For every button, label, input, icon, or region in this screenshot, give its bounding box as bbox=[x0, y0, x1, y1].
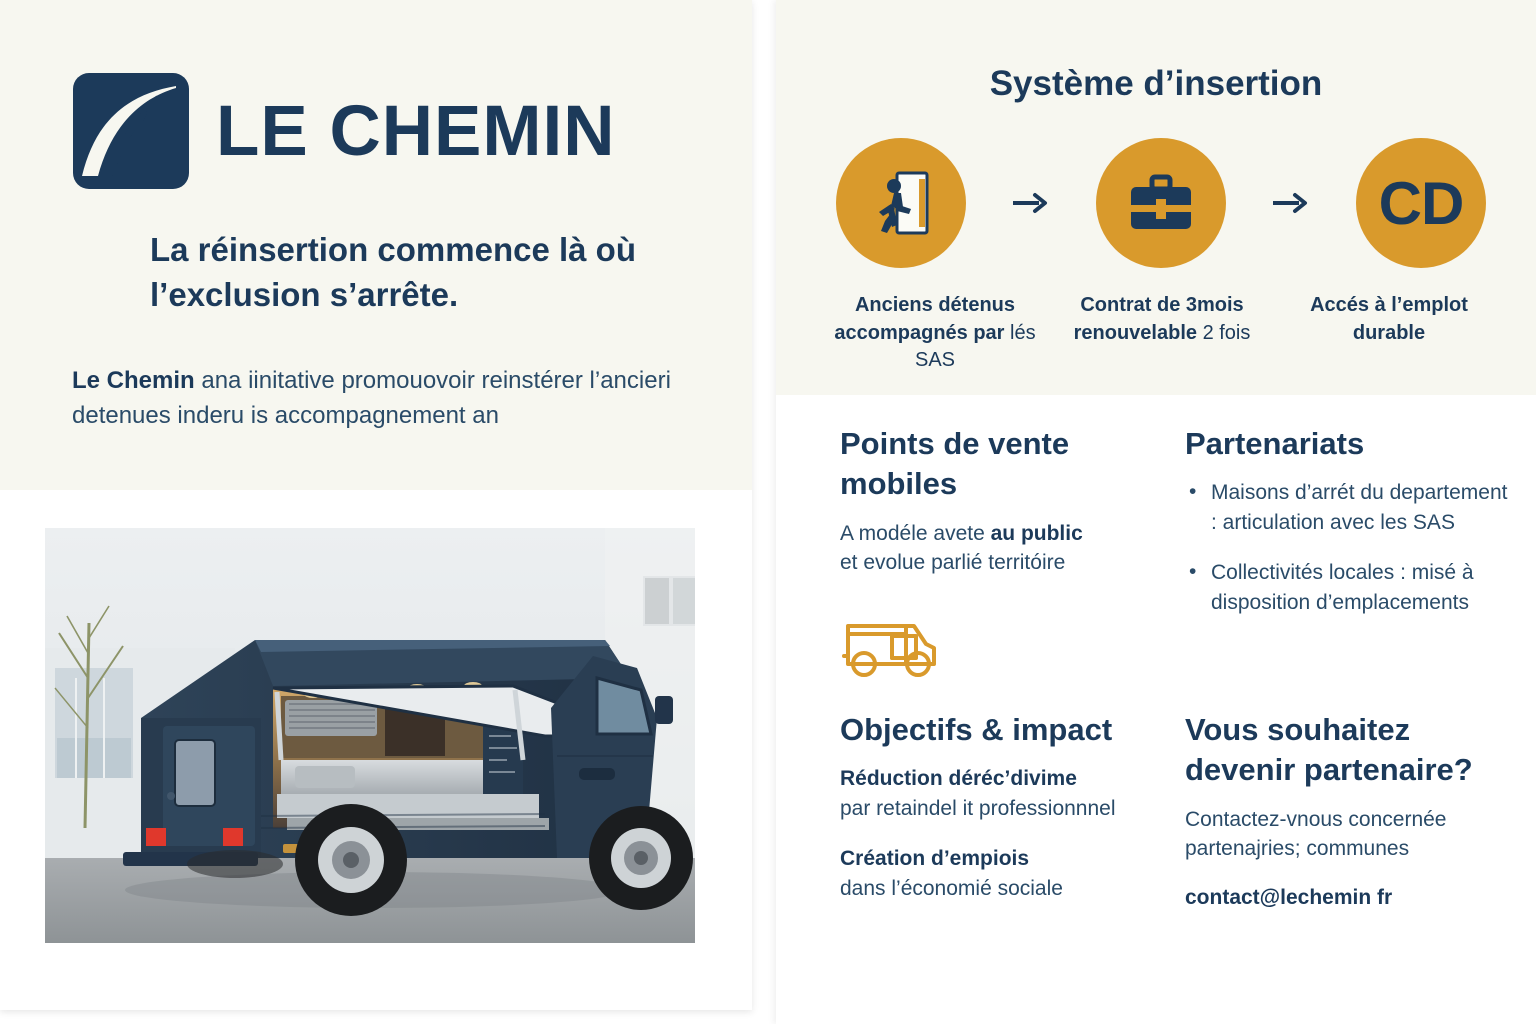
objectifs-item-1-regular: par retaindel it professionnnel bbox=[840, 794, 1160, 824]
road-logo-icon bbox=[72, 72, 190, 190]
objectifs-heading: Objectifs & impact bbox=[840, 710, 1160, 750]
right-panel: Système d’insertion bbox=[776, 0, 1536, 1024]
step-1-caption-bold: Anciens détenus accompagnés par bbox=[834, 294, 1015, 344]
step-1-caption: Anciens détenus accompagnés par lés SAS bbox=[830, 292, 1040, 375]
objectifs-item-2-regular: dans l’économié sociale bbox=[840, 874, 1160, 904]
brand-lockup: LE CHEMIN bbox=[72, 72, 616, 190]
list-item: Maisons d’arrét du departement : articul… bbox=[1185, 478, 1515, 538]
step-3-caption: Accés à l’emplot durable bbox=[1284, 292, 1494, 375]
points-de-vente-body: A modéle avete au public et evolue parli… bbox=[840, 519, 1156, 579]
person-exiting-door-icon bbox=[861, 163, 941, 243]
step-2-circle bbox=[1096, 138, 1226, 268]
partenariats-bullet-list: Maisons d’arrét du departement : articul… bbox=[1185, 478, 1515, 617]
step-captions: Anciens détenus accompagnés par lés SAS … bbox=[830, 292, 1494, 375]
devenir-partenaire-body: Contactez-vnous concernée partenajries; … bbox=[1185, 805, 1515, 865]
step-3-circle: CD bbox=[1356, 138, 1486, 268]
tagline: La réinsertion commence là où l’exclusio… bbox=[150, 228, 730, 317]
points-de-vente-heading: Points de vente mobiles bbox=[840, 424, 1156, 505]
section-objectifs: Objectifs & impact Réduction déréc’divim… bbox=[840, 710, 1160, 904]
points-de-vente-line1-strong: au public bbox=[991, 522, 1083, 545]
system-title: Système d’insertion bbox=[776, 64, 1536, 104]
briefcase-icon bbox=[1121, 163, 1201, 243]
arrow-right-icon bbox=[1002, 191, 1060, 215]
lead-paragraph-strong: Le Chemin bbox=[72, 367, 195, 394]
cd-text-icon: CD bbox=[1379, 169, 1464, 238]
contact-email[interactable]: contact@lechemin fr bbox=[1185, 886, 1515, 910]
left-panel: LE CHEMIN La réinsertion commence là où … bbox=[0, 0, 752, 1010]
points-de-vente-line2: et evolue parlié territóire bbox=[840, 548, 1156, 578]
objectifs-item-1: Réduction déréc’divime par retaindel it … bbox=[840, 764, 1160, 824]
step-3-caption-bold: Accés à l’emplot durable bbox=[1310, 294, 1468, 344]
section-partenariats: Partenariats Maisons d’arrét du departem… bbox=[1185, 424, 1515, 618]
section-devenir-partenaire: Vous souhaitez devenir partenaire? Conta… bbox=[1185, 710, 1515, 910]
infographic-page: LE CHEMIN La réinsertion commence là où … bbox=[0, 0, 1536, 1024]
objectifs-body: Réduction déréc’divime par retaindel it … bbox=[840, 764, 1160, 903]
step-1-circle bbox=[836, 138, 966, 268]
step-2-caption-regular: 2 fois bbox=[1197, 322, 1250, 344]
step-2-caption: Contrat de 3mois renouvelable 2 fois bbox=[1057, 292, 1267, 375]
points-de-vente-line1-pre: A modéle avete bbox=[840, 522, 991, 545]
section-points-de-vente: Points de vente mobiles A modéle avete a… bbox=[840, 424, 1156, 682]
devenir-partenaire-heading: Vous souhaitez devenir partenaire? bbox=[1185, 710, 1515, 791]
list-item: Collectivités locales : misé à dispositi… bbox=[1185, 558, 1515, 618]
lead-paragraph: Le Chemin ana iinitative promouovoir rei… bbox=[72, 363, 712, 434]
objectifs-item-1-strong: Réduction déréc’divime bbox=[840, 764, 1160, 794]
objectifs-item-2-strong: Création d’empiois bbox=[840, 844, 1160, 874]
objectifs-item-2: Création d’empiois dans l’économié socia… bbox=[840, 844, 1160, 904]
food-truck-outline-icon bbox=[840, 612, 1156, 682]
arrow-right-icon-2 bbox=[1262, 191, 1320, 215]
insertion-steps: CD bbox=[836, 138, 1486, 268]
food-truck-photo bbox=[45, 528, 695, 943]
partenariats-heading: Partenariats bbox=[1185, 424, 1515, 464]
brand-name: LE CHEMIN bbox=[216, 96, 616, 167]
